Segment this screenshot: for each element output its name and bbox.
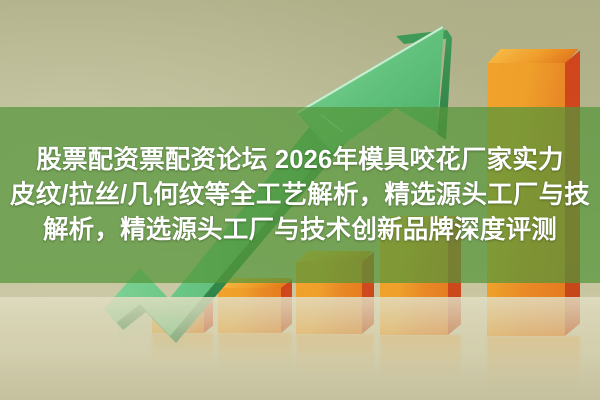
headline-block: 股票配资票配资论坛 2026年模具咬花厂家实力 皮纹/拉丝/几何纹等全工艺解析，… xyxy=(0,107,600,283)
headline-line-1: 股票配资票配资论坛 2026年模具咬花厂家实力 xyxy=(36,143,563,178)
reflective-floor xyxy=(0,297,600,400)
headline-line-3: 解析，精选源头工厂与技术创新品牌深度评测 xyxy=(43,213,557,248)
banner-image: 股票配资票配资论坛 2026年模具咬花厂家实力 皮纹/拉丝/几何纹等全工艺解析，… xyxy=(0,0,600,400)
headline-line-2: 皮纹/拉丝/几何纹等全工艺解析，精选源头工厂与技 xyxy=(10,178,590,213)
